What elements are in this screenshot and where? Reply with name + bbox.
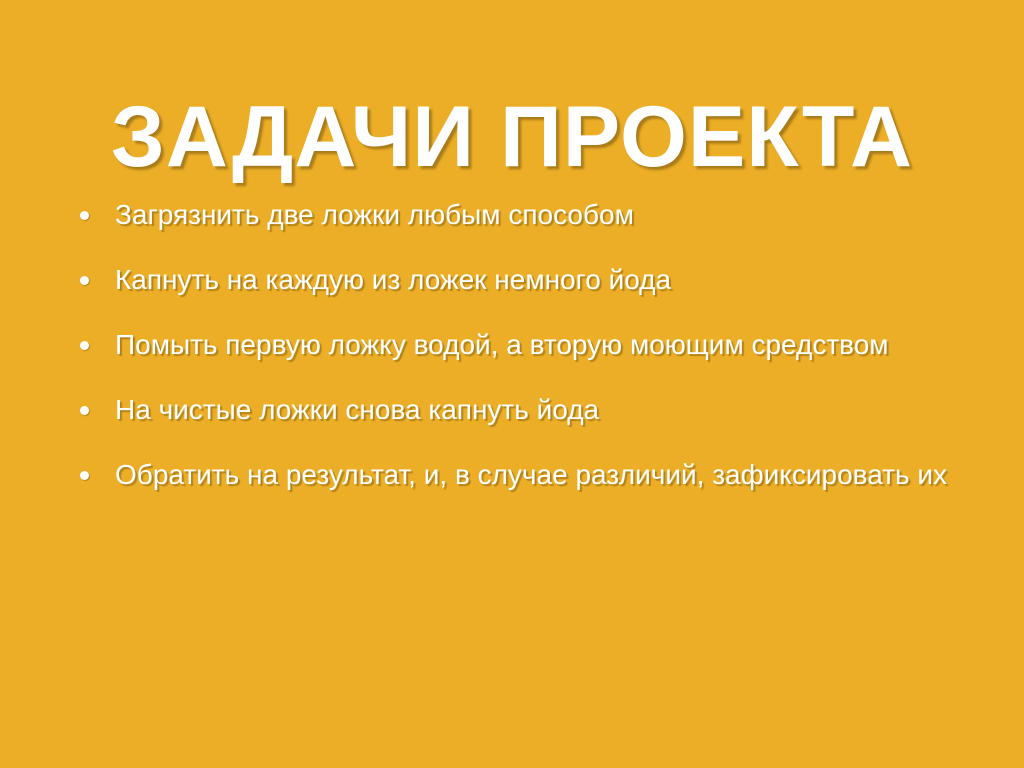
list-item: Капнуть на каждую из ложек немного йода [72, 263, 1002, 307]
bullet-dot-icon [80, 211, 89, 220]
bullet-dot-icon [80, 341, 89, 350]
bullet-dot-icon [80, 471, 89, 480]
list-item: Обратить на результат, и, в случае разли… [72, 458, 1002, 502]
list-item: Загрязнить две ложки любым способом [72, 198, 1002, 242]
objectives-bullet-list: Загрязнить две ложки любым способом Капн… [72, 198, 1002, 502]
list-item-label: Загрязнить две ложки любым способом [115, 198, 1002, 232]
bullet-dot-icon [80, 406, 89, 415]
list-item-label: Капнуть на каждую из ложек немного йода [115, 263, 1002, 297]
list-item-label: Обратить на результат, и, в случае разли… [115, 458, 1002, 492]
list-item-label: На чистые ложки снова капнуть йода [115, 393, 1002, 427]
page-title: ЗАДАЧИ ПРОЕКТА [0, 92, 1024, 182]
list-item: Помыть первую ложку водой, а вторую моющ… [72, 328, 1002, 372]
bullet-dot-icon [80, 276, 89, 285]
list-item-label: Помыть первую ложку водой, а вторую моющ… [115, 328, 1002, 362]
presentation-slide: ЗАДАЧИ ПРОЕКТА Загрязнить две ложки любы… [0, 0, 1024, 768]
list-item: На чистые ложки снова капнуть йода [72, 393, 1002, 437]
